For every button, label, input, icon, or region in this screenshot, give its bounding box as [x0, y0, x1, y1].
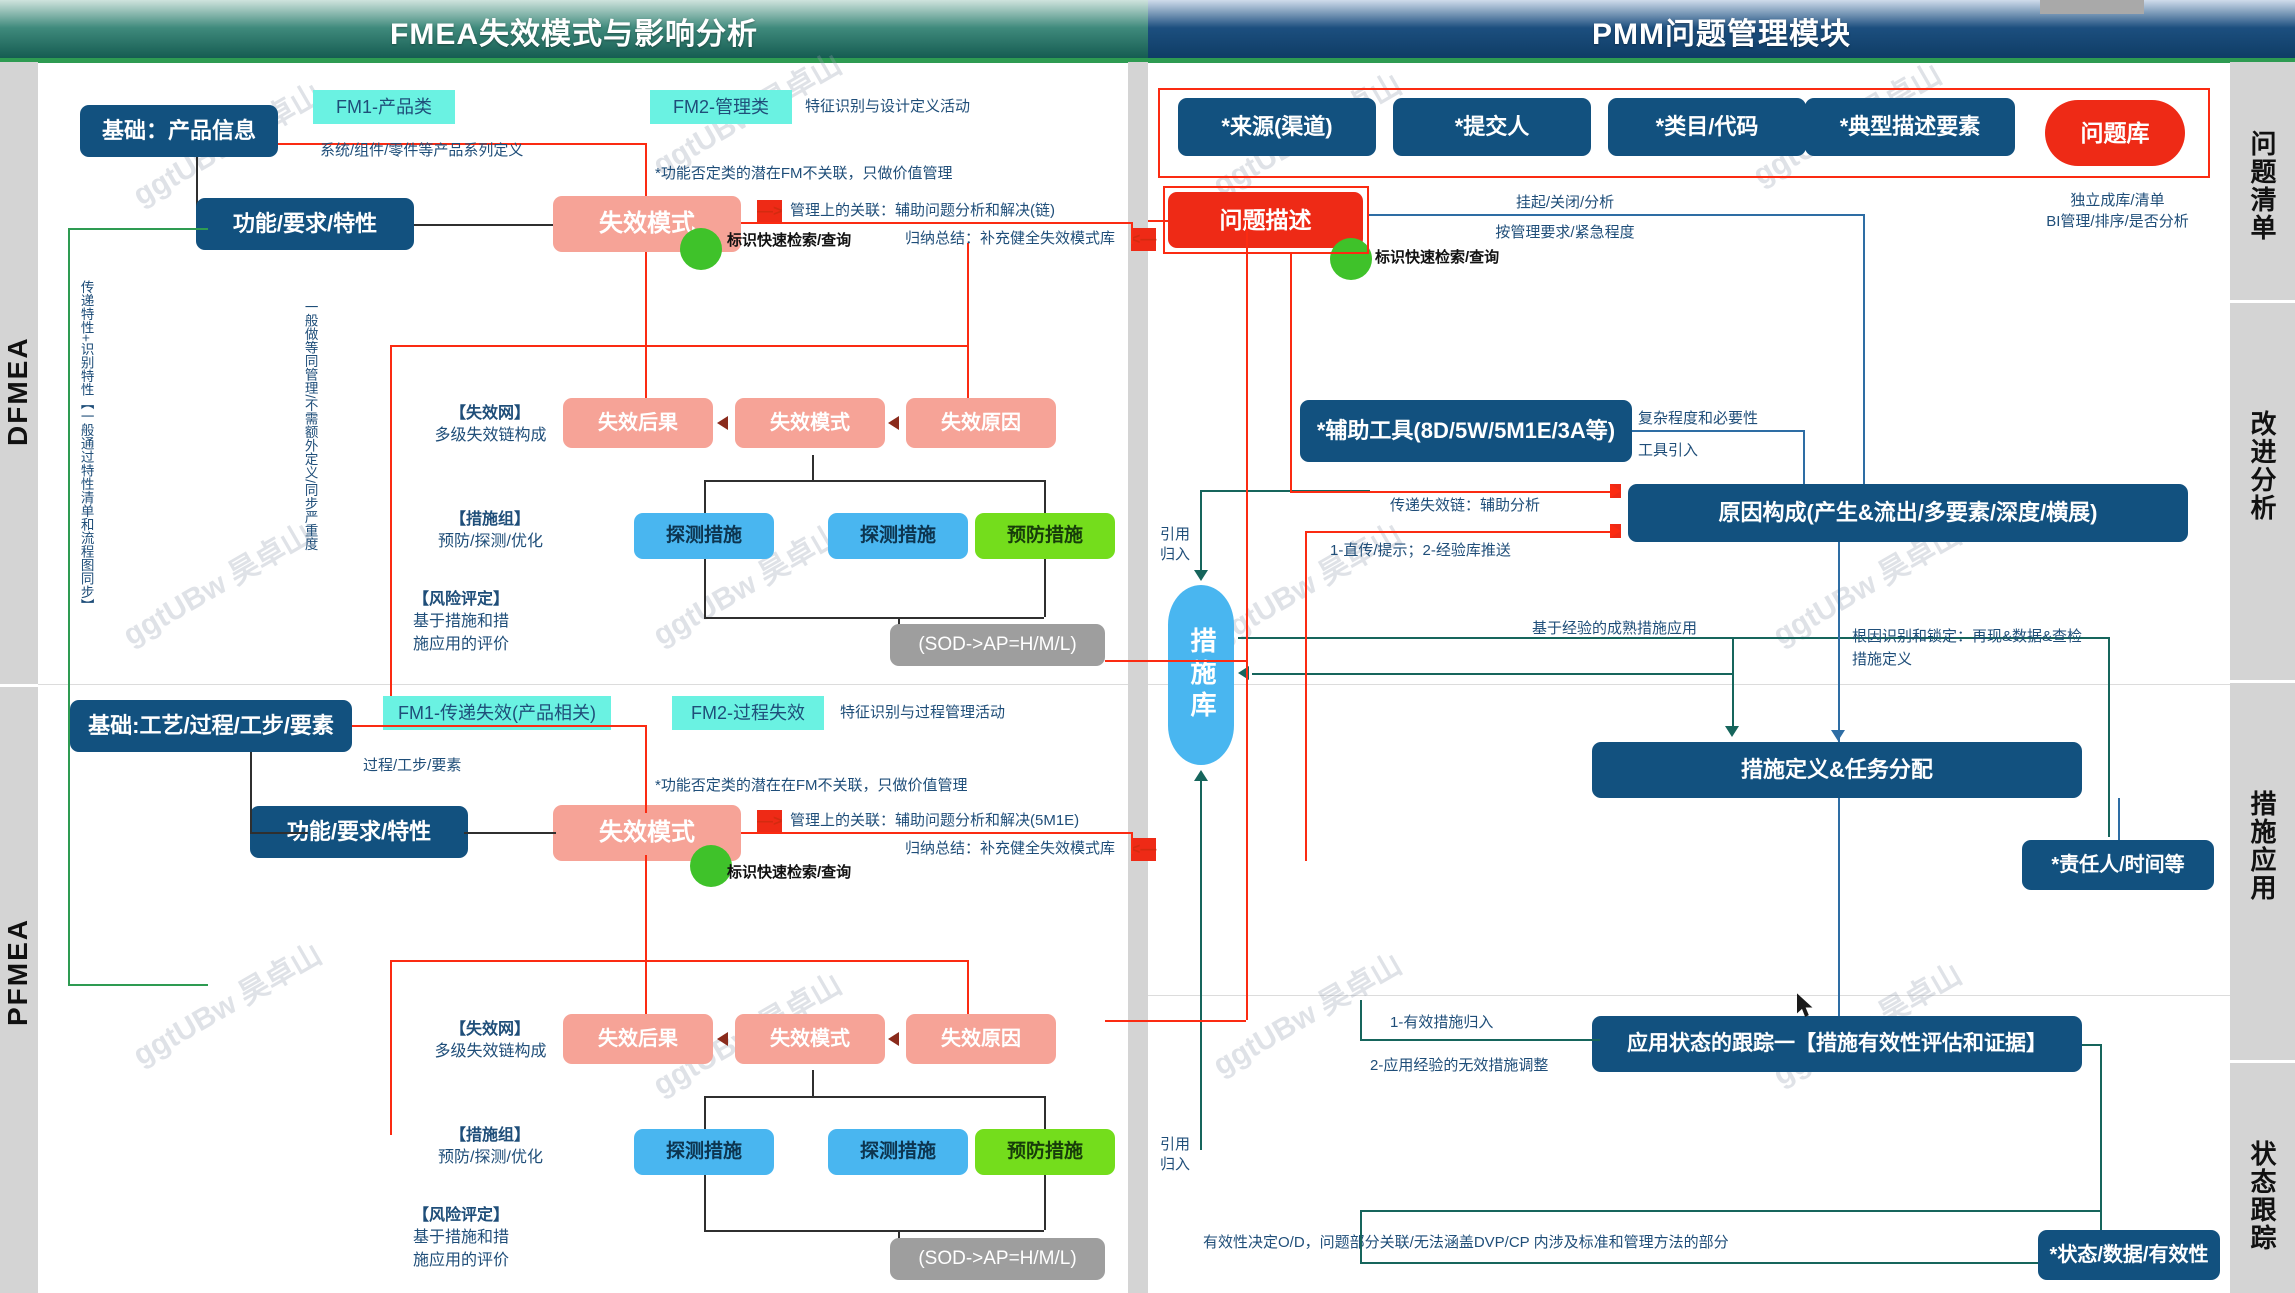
pfmea-measure-group-sub: 预防/探测/优化 — [408, 1146, 573, 1169]
header-right-title: PMM问题管理模块 — [1592, 9, 1851, 53]
pmm-problem-desc-frame — [1163, 186, 1369, 254]
pbracket-br-v — [1044, 1175, 1046, 1230]
dfmea-fm-negative-note: *功能否定类的潜在FM不关联，只做价值管理 — [655, 163, 953, 185]
pfmea-fm2-tag[interactable]: FM2-过程失效 — [672, 696, 824, 730]
pfmea-risk-sub: 基于措施和措 施应用的评价 — [413, 1226, 509, 1272]
pfmea-fm2-note: 特征识别与过程管理活动 — [840, 702, 1005, 724]
pmm-red-loop-v — [1246, 220, 1248, 1020]
dfmea-detect-measure-2[interactable]: 探测措施 — [828, 513, 968, 559]
pmm-field-category[interactable]: *类目/代码 — [1608, 98, 1806, 156]
arrow-to-action-def — [1831, 730, 1845, 741]
pfmea-connector-base-h — [250, 832, 308, 834]
pmm-cause-box[interactable]: 原因构成(产生&流出/多要素/深度/横展) — [1628, 484, 2188, 542]
pfmea-fm-down — [645, 855, 647, 960]
watermark: ggtUBw 昊卓山 — [113, 510, 318, 654]
pmm-status-note-2: 按管理要求/紧急程度 — [1415, 222, 1715, 244]
pfmea-failure-mode-chain[interactable]: 失效模式 — [735, 1014, 885, 1064]
pmm-bottom-note: 有效性决定O/D，问题部分关联/无法涵盖DVP/CP 内涉及标准和管理方法的部分 — [1203, 1232, 1729, 1254]
diagram-canvas: FMEA失效模式与影响分析 PMM问题管理模块 DFMEA PFMEA 问题清单… — [0, 0, 2295, 1293]
pmm-problem-library[interactable]: 问题库 — [2045, 100, 2185, 166]
rail-label-pfmea: PFMEA — [2, 926, 34, 1026]
arrow-into-library-top — [1194, 570, 1208, 581]
pfmea-connector-mgmt-v — [1131, 832, 1133, 854]
pfmea-fm-left-v — [390, 960, 392, 1135]
pfmea-quick-search-note: 标识快速检索/查询 — [727, 862, 851, 884]
header-left: FMEA失效模式与影响分析 — [0, 0, 1148, 62]
bracket-bl-v — [704, 559, 706, 617]
connector-fm-right-v — [967, 243, 969, 405]
pfmea-failure-net-title: 【失效网】 — [420, 1018, 560, 1041]
pbracket-bl-v — [704, 1175, 706, 1230]
pmm-red-v-1 — [1305, 531, 1307, 861]
header-left-title: FMEA失效模式与影响分析 — [390, 9, 758, 53]
pfmea-fm-negative-note: *功能否定类的潜在在FM不关联，只做价值管理 — [655, 775, 968, 797]
status-dot-green[interactable] — [690, 845, 732, 887]
pfmea-connector-red-h — [352, 725, 645, 727]
pfmea-fm-right-v — [967, 960, 969, 1020]
pmm-separator-2 — [1148, 995, 2230, 996]
dfmea-measure-group-title: 【措施组】 — [420, 508, 560, 531]
dfmea-sod-box[interactable]: (SOD->AP=H/M/L) — [890, 624, 1105, 666]
pmm-track-line-v — [1360, 1000, 1362, 1039]
arrow-chain-2 — [888, 416, 899, 430]
pmm-red-arrow-line-1 — [1290, 491, 1610, 493]
arrow-cause-in-1 — [1610, 484, 1621, 498]
bracket-bottom-h — [704, 617, 1044, 619]
library-out-h2 — [1252, 673, 1732, 675]
pmm-desc-inlet — [1148, 220, 1168, 222]
pfmea-base-box[interactable]: 基础:工艺/过程/工步/要素 — [70, 700, 352, 752]
arrow-teal-to-action — [1725, 726, 1739, 737]
connector-func-fm — [410, 224, 553, 226]
pmm-bottom-line-v — [1360, 1210, 1362, 1262]
pfmea-fm-spread — [390, 960, 967, 962]
pbracket-bottom-h — [704, 1230, 1044, 1232]
pmm-tools-note-1: 复杂程度和必要性 — [1638, 408, 1758, 430]
connector-fm-left-v — [390, 345, 392, 697]
bracket-right-v — [1044, 480, 1046, 513]
pmm-bottom-line-h2 — [1360, 1262, 2038, 1264]
right-rail — [2230, 62, 2295, 1293]
dfmea-mgmt-arrow: —> — [757, 200, 782, 223]
connector-base-red-v — [645, 143, 647, 204]
dfmea-fm1-tag[interactable]: FM1-产品类 — [313, 90, 455, 124]
pfmea-failure-cause[interactable]: 失效原因 — [906, 1014, 1056, 1064]
dfmea-function-box[interactable]: 功能/要求/特性 — [196, 198, 414, 250]
pmm-red-v-2 — [1290, 254, 1292, 491]
arrow-pchain-1 — [717, 1032, 728, 1046]
pfmea-fm-mid-v — [645, 960, 647, 1020]
pfmea-prevent-measure[interactable]: 预防措施 — [975, 1129, 1115, 1175]
dfmea-pfmea-separator — [38, 684, 1128, 685]
pmm-problem-library-note: 独立成库/清单 BI管理/排序/是否分析 — [2035, 190, 2200, 232]
dfmea-vertical-red-note: 一般做等同管理/不需额外定义/同步严重度 — [300, 300, 320, 700]
bracket-br-v — [1044, 559, 1046, 617]
pmm-quick-search-note: 标识快速检索/查询 — [1375, 247, 1499, 269]
pmm-track-note-2: 2-应用经验的无效措施调整 — [1370, 1055, 1548, 1077]
bracket-top-v — [812, 455, 814, 480]
pmm-track-line-h — [1360, 1039, 1600, 1041]
library-ref-top-note: 引用 归入 — [1160, 525, 1190, 564]
dfmea-summary-arrow: <— — [1131, 228, 1156, 251]
connector-mgmt-red-h — [741, 222, 1131, 224]
library-out-v — [2108, 637, 2110, 837]
pmm-status-line-v — [1863, 214, 1865, 504]
connector-fm-spread — [390, 345, 967, 347]
left-rail — [0, 62, 38, 1293]
dfmea-summary-note: 归纳总结：补充健全失效模式库 — [905, 228, 1115, 250]
dfmea-failure-net-title: 【失效网】 — [420, 402, 560, 425]
dfmea-base-box[interactable]: 基础：产品信息 — [80, 105, 278, 157]
dfmea-risk-sub: 基于措施和措 施应用的评价 — [413, 610, 509, 656]
pmm-action-to-tracking — [1838, 798, 1840, 1016]
header-left-underline — [0, 58, 1148, 63]
bracket-left-v — [704, 480, 706, 513]
pmm-cause-to-action-v — [1838, 542, 1840, 742]
pmm-cause-note-1: 传递失效链：辅助分析 — [1390, 495, 1540, 517]
pmm-owner-box[interactable]: *责任人/时间等 — [2022, 840, 2214, 890]
pfmea-detect-measure-2[interactable]: 探测措施 — [828, 1129, 968, 1175]
pfmea-mgmt-arrow: —> — [757, 810, 782, 833]
pmm-status-box[interactable]: *状态/数据/有效性 — [2038, 1230, 2220, 1280]
left-rail-divider — [0, 684, 38, 687]
pfmea-detect-measure-1[interactable]: 探测措施 — [634, 1129, 774, 1175]
pmm-bottom-line-h — [1360, 1210, 2100, 1212]
rail-item-action-application[interactable]: 措施应用 — [2244, 790, 2281, 902]
pmm-red-loop-h — [1105, 1020, 1246, 1022]
right-rail-divider-3 — [2230, 1060, 2295, 1063]
pfmea-failure-effect[interactable]: 失效后果 — [563, 1014, 713, 1064]
pfmea-summary-arrow: <— — [1131, 838, 1156, 861]
dfmea-detect-measure-1[interactable]: 探测措施 — [634, 513, 774, 559]
pmm-cause-note-2: 1-直传/提示；2-经验库推送 — [1330, 540, 1511, 562]
pmm-action-definition[interactable]: 措施定义&任务分配 — [1592, 742, 2082, 798]
dfmea-base-note: 系统/组件/零件等产品系列定义 — [320, 140, 523, 162]
pmm-status-note-1: 挂起/关闭/分析 — [1415, 192, 1715, 214]
rail-label-dfmea: DFMEA — [2, 346, 34, 446]
pmm-status-line-down — [2100, 1044, 2102, 1230]
window-notch — [2040, 0, 2144, 14]
rail-item-status-tracking[interactable]: 状态跟踪 — [2244, 1140, 2281, 1252]
pfmea-connector-func-fm — [464, 832, 556, 834]
dfmea-prevent-measure[interactable]: 预防措施 — [975, 513, 1115, 559]
measure-library-ellipse[interactable]: 措施库 — [1168, 585, 1234, 765]
watermark: ggtUBw 昊卓山 — [123, 930, 328, 1074]
arrow-chain-1 — [717, 416, 728, 430]
pfmea-risk-title: 【风险评定】 — [413, 1204, 509, 1227]
pmm-teal-to-action — [1732, 673, 1734, 728]
status-dot-green[interactable] — [680, 228, 722, 270]
pmm-tools-line-h — [1632, 430, 1803, 432]
dfmea-mgmt-relation-note: 管理上的关联：辅助问题分析和解决(链) — [790, 200, 1055, 222]
pfmea-connector-mgmt-h — [741, 832, 1131, 834]
pbracket-top-h — [704, 1096, 1044, 1098]
connector-fm-down — [645, 245, 647, 345]
dfmea-quick-search-note: 标识快速检索/查询 — [727, 230, 851, 252]
rail-item-improvement-analysis[interactable]: 改进分析 — [2244, 410, 2281, 522]
pbracket-top-v — [812, 1070, 814, 1096]
dfmea-fm2-note: 特征识别与设计定义活动 — [805, 96, 970, 118]
pbracket-left-v — [704, 1096, 706, 1129]
dfmea-failure-cause[interactable]: 失效原因 — [906, 398, 1056, 448]
bracket-green-top — [68, 228, 208, 230]
dfmea-failure-mode-chain[interactable]: 失效模式 — [735, 398, 885, 448]
pmm-action-to-owner — [2118, 798, 2120, 840]
library-in-v — [1200, 490, 1202, 570]
pmm-tools-box[interactable]: *辅助工具(8D/5W/5M1E/3A等) — [1300, 400, 1632, 462]
header-right-underline — [1148, 58, 2295, 63]
dfmea-measure-group-sub: 预防/探测/优化 — [408, 530, 573, 553]
bracket-green-v — [68, 228, 70, 984]
right-rail-divider-1 — [2230, 300, 2295, 303]
dfmea-fm2-tag[interactable]: FM2-管理类 — [650, 90, 792, 124]
pmm-field-description-elements[interactable]: *典型描述要素 — [1805, 98, 2015, 156]
pmm-tracking-box[interactable]: 应用状态的跟踪一【措施有效性评估和证据】 — [1592, 1016, 2082, 1072]
pfmea-sod-box[interactable]: (SOD->AP=H/M/L) — [890, 1238, 1105, 1280]
library-up-v — [1200, 780, 1202, 1150]
arrow-pchain-2 — [888, 1032, 899, 1046]
dfmea-risk-title: 【风险评定】 — [413, 588, 509, 611]
pmm-red-arrow-line-2 — [1305, 531, 1610, 533]
pmm-track-note-1: 1-有效措施归入 — [1390, 1012, 1493, 1034]
bracket-top-h — [704, 480, 1044, 482]
pfmea-failure-net-sub: 多级失效链构成 — [408, 1040, 573, 1063]
pmm-status-line-join — [2082, 1044, 2100, 1046]
pfmea-measure-group-title: 【措施组】 — [420, 1124, 560, 1147]
pmm-separator-1 — [1148, 684, 2230, 685]
pmm-mature-measure-note: 基于经验的成熟措施应用 — [1532, 618, 1697, 640]
pmm-tools-note-2: 工具引入 — [1638, 440, 1698, 462]
arrow-cause-in-2 — [1610, 524, 1621, 538]
connector-fm-mid-v — [645, 345, 647, 405]
bracket-green-bottom — [68, 984, 208, 986]
pmm-root-cause-note: 根因识别和锁定：再现&数据&查检 措施定义 — [1852, 625, 2082, 672]
right-rail-divider-2 — [2230, 680, 2295, 683]
dfmea-vertical-green-note: 传递特性+识别特性【一般通过特性清单和流程图同步】 — [76, 280, 96, 900]
pfmea-connector-red-v — [645, 725, 647, 813]
pmm-red-loop-h2 — [1105, 660, 1246, 662]
library-out-v2 — [1732, 637, 1734, 673]
pfmea-summary-note: 归纳总结：补充健全失效模式库 — [905, 838, 1115, 860]
pfmea-base-note: 过程/工步/要素 — [363, 755, 461, 777]
pbracket-right-v — [1044, 1096, 1046, 1129]
library-ref-bottom-note: 引用 归入 — [1160, 1135, 1190, 1174]
pfmea-connector-base-v — [250, 752, 252, 832]
connector-mgmt-red-v — [1131, 222, 1133, 244]
dfmea-failure-net-sub: 多级失效链构成 — [408, 424, 573, 447]
pmm-field-source[interactable]: *来源(渠道) — [1178, 98, 1376, 156]
pmm-status-line — [1369, 214, 1863, 216]
mouse-cursor — [1795, 992, 1817, 1022]
dfmea-failure-effect[interactable]: 失效后果 — [563, 398, 713, 448]
rail-item-problem-list[interactable]: 问题清单 — [2244, 130, 2281, 242]
pmm-field-submitter[interactable]: *提交人 — [1393, 98, 1591, 156]
pfmea-mgmt-relation-note: 管理上的关联：辅助问题分析和解决(5M1E) — [790, 810, 1079, 832]
